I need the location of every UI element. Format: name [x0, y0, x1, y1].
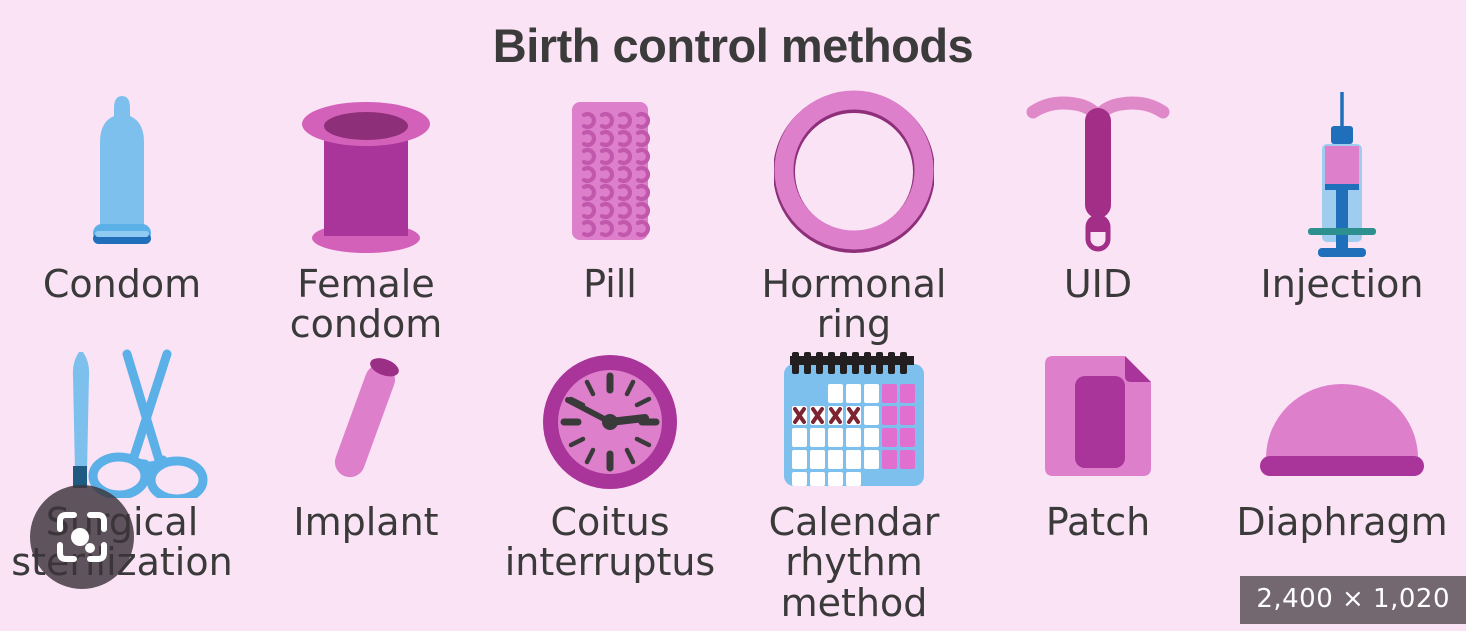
clock-icon [488, 348, 732, 498]
method-item-patch: Patch [976, 348, 1220, 628]
hormonal-ring-icon [732, 90, 976, 260]
method-label: Patch [976, 502, 1220, 542]
method-label: Pill [488, 264, 732, 304]
google-lens-icon [54, 509, 110, 565]
scalpel-and-forceps-icon [0, 348, 244, 498]
method-item-uid: UID [976, 90, 1220, 345]
method-label: Condom [0, 264, 244, 304]
implant-rod-icon [244, 348, 488, 498]
dimension-badge: 2,400 × 1,020 [1240, 576, 1466, 624]
pill-blister-pack-icon [488, 90, 732, 260]
method-item-surgical-sterilization: Surgical sterilization [0, 348, 244, 628]
method-label: Implant [244, 502, 488, 542]
method-label: Injection [1220, 264, 1464, 304]
method-item-implant: Implant [244, 348, 488, 628]
method-label: Diaphragm [1220, 502, 1464, 542]
method-label: Coitus interruptus [488, 502, 732, 583]
image-viewer: Birth control methods Condom [0, 0, 1466, 631]
intrauterine-device-icon [976, 90, 1220, 260]
method-item-calendar-rhythm: Calendar rhythm method [732, 348, 976, 628]
diaphragm-icon [1220, 348, 1464, 498]
method-item-coitus-interruptus: Coitus interruptus [488, 348, 732, 628]
method-label: Female condom [244, 264, 488, 345]
condom-icon [0, 90, 244, 260]
method-item-hormonal-ring: Hormonal ring [732, 90, 976, 345]
method-label: Hormonal ring [732, 264, 976, 345]
google-lens-button[interactable] [30, 485, 134, 589]
patch-icon [976, 348, 1220, 498]
female-condom-icon [244, 90, 488, 260]
method-item-condom: Condom [0, 90, 244, 345]
method-label: Calendar rhythm method [732, 502, 976, 623]
page-title: Birth control methods [0, 18, 1466, 73]
calendar-icon [732, 348, 976, 498]
syringe-icon [1220, 90, 1464, 260]
methods-grid: Condom Female condom [0, 90, 1466, 631]
method-item-injection: Injection [1220, 90, 1464, 345]
method-label: UID [976, 264, 1220, 304]
method-item-pill: Pill [488, 90, 732, 345]
method-item-female-condom: Female condom [244, 90, 488, 345]
